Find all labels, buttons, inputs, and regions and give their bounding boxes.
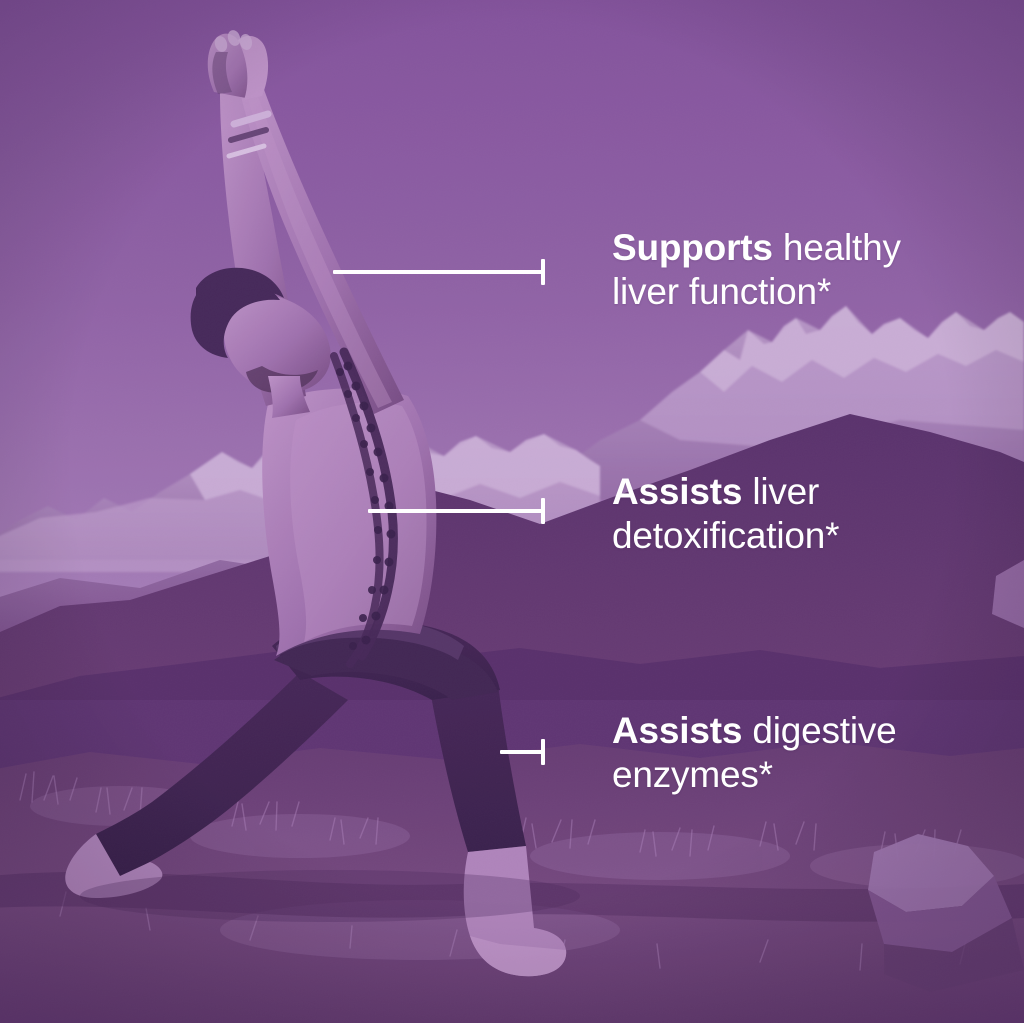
benefit-callouts: Supports healthy liver function* Assists… bbox=[0, 0, 1024, 1023]
callout-liver-detox: Assists liver detoxification* bbox=[612, 470, 839, 557]
callout-digestive-enzymes-line2: enzymes* bbox=[612, 753, 897, 797]
callout-liver-detox-line1: Assists liver bbox=[612, 470, 839, 514]
leader-tick-liver-detox bbox=[541, 498, 545, 524]
callout-digestive-enzymes: Assists digestive enzymes* bbox=[612, 709, 897, 796]
callout-digestive-enzymes-bold: Assists bbox=[612, 710, 742, 751]
callout-liver-detox-bold: Assists bbox=[612, 471, 742, 512]
leader-line-liver-detox bbox=[368, 509, 545, 513]
callout-liver-function-rest: healthy bbox=[773, 227, 901, 268]
leader-line-digestive-enzymes bbox=[500, 750, 545, 754]
callout-liver-function-bold: Supports bbox=[612, 227, 773, 268]
callout-liver-function-line1: Supports healthy bbox=[612, 226, 901, 270]
callout-liver-detox-line2: detoxification* bbox=[612, 514, 839, 558]
leader-tick-liver-function bbox=[541, 259, 545, 285]
callout-digestive-enzymes-rest: digestive bbox=[742, 710, 896, 751]
callout-digestive-enzymes-line1: Assists digestive bbox=[612, 709, 897, 753]
callout-liver-detox-rest: liver bbox=[742, 471, 819, 512]
callout-liver-function: Supports healthy liver function* bbox=[612, 226, 901, 313]
leader-tick-digestive-enzymes bbox=[541, 739, 545, 765]
benefit-graphic-canvas: Supports healthy liver function* Assists… bbox=[0, 0, 1024, 1023]
callout-liver-function-line2: liver function* bbox=[612, 270, 901, 314]
leader-line-liver-function bbox=[333, 270, 545, 274]
